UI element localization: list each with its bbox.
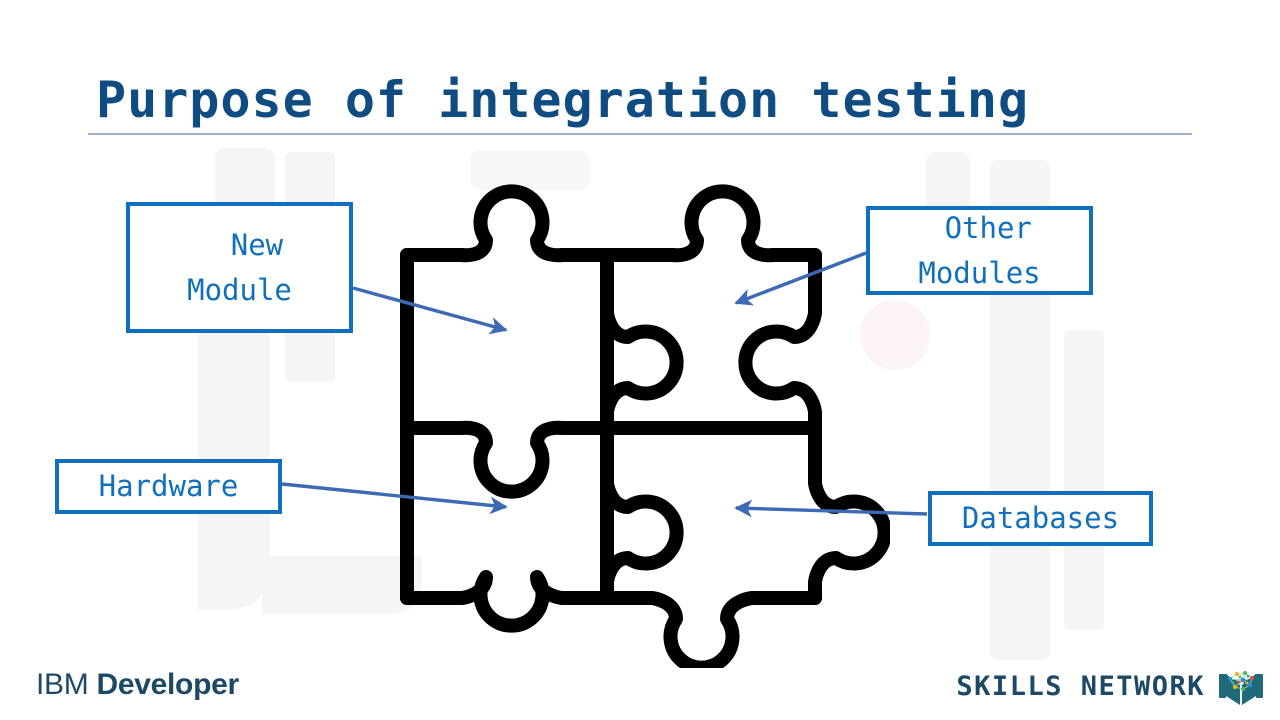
arrow-new-module — [353, 288, 506, 330]
arrow-other-modules — [736, 253, 866, 303]
label-box-new-module: New Module — [126, 202, 353, 333]
slide-canvas: Purpose of integration testing — [0, 0, 1280, 720]
label-box-databases: Databases — [928, 491, 1153, 546]
arrow-databases — [736, 508, 927, 514]
arrow-hardware — [282, 484, 506, 507]
connector-arrows — [0, 0, 1280, 720]
label-box-hardware: Hardware — [55, 459, 282, 514]
label-box-other-modules: Other Modules — [866, 206, 1093, 295]
